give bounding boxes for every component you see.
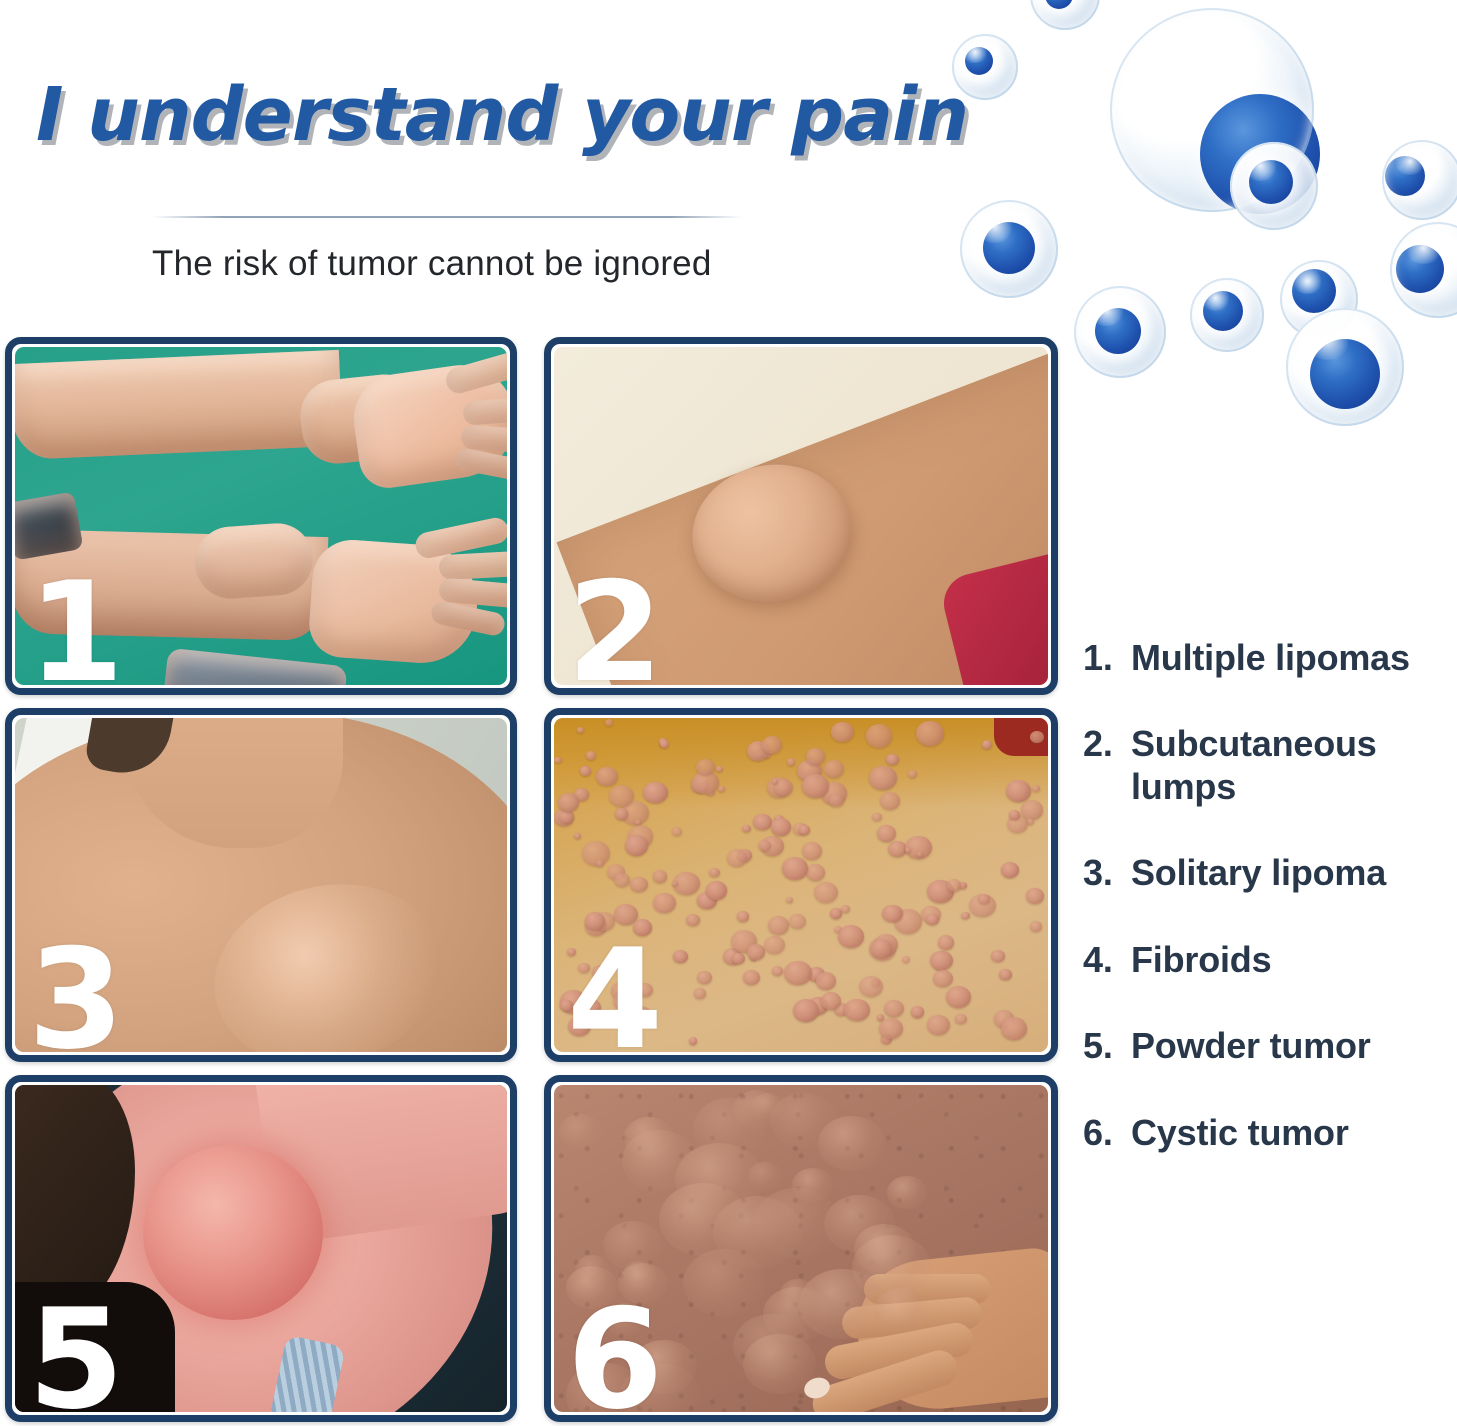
fibroid-nodule	[886, 754, 899, 765]
fibroid-nodule	[743, 970, 760, 985]
fibroid-nodule	[866, 724, 892, 747]
legend-label-6: Cystic tumor	[1131, 1112, 1443, 1154]
fibroid-nodule	[635, 820, 641, 825]
fibroid-nodule	[615, 808, 628, 819]
fibroid-nodule	[926, 914, 939, 925]
fibroid-nodule	[1032, 785, 1040, 792]
fibroid-nodule	[609, 785, 634, 807]
fibroid-nodule	[742, 825, 750, 832]
fibroid-nodule	[927, 1015, 950, 1035]
fibroid-nodule	[821, 992, 841, 1010]
fibroid-nodule	[764, 936, 785, 955]
fibroid-nodule	[696, 759, 714, 775]
fibroid-nodule	[806, 748, 825, 764]
fibroid-nodule	[718, 786, 725, 792]
fibroid-nodule	[793, 999, 819, 1022]
fibroid-nodule	[884, 1000, 904, 1017]
fibroid-nodule	[831, 722, 854, 742]
fibroid-nodule	[930, 951, 953, 971]
fibroid-nodule	[1001, 862, 1019, 878]
legend-number-6: 6.	[1083, 1112, 1131, 1154]
fibroid-nodule	[686, 914, 700, 926]
fibroid-nodule	[653, 870, 667, 882]
fibroid-nodule	[841, 905, 851, 913]
fibroid-nodule	[882, 905, 902, 923]
legend-number-2: 2.	[1083, 723, 1131, 808]
legend-number-3: 3.	[1083, 852, 1131, 894]
fibroid-nodule	[946, 986, 971, 1008]
fibroid-nodule	[859, 976, 884, 998]
tumor-type-legend: 1. Multiple lipomas 2. Subcutaneous lump…	[1083, 637, 1443, 1198]
bubble-mid-left-icon	[960, 200, 1058, 298]
fibroid-nodule	[768, 916, 789, 935]
fibroid-nodule	[643, 782, 667, 803]
bubble-lower-left-icon	[1074, 286, 1166, 378]
fibroid-nodule	[829, 794, 844, 807]
photo-number-badge-5: 5	[28, 1291, 124, 1422]
fibroid-nodule	[580, 766, 590, 775]
fibroid-nodule	[787, 758, 795, 765]
legend-number-5: 5.	[1083, 1025, 1131, 1067]
page-subtitle: The risk of tumor cannot be ignored	[152, 244, 972, 284]
fibroid-nodule	[625, 835, 648, 856]
legend-item-4: 4. Fibroids	[1083, 939, 1443, 981]
photo-cell-3[interactable]: 3	[5, 708, 517, 1062]
fibroid-nodule	[872, 813, 881, 821]
fibroid-nodule	[727, 849, 748, 867]
fibroid-nodule	[933, 970, 953, 988]
fibroid-nodule	[577, 727, 584, 733]
fibroid-nodule	[888, 841, 906, 857]
fibroid-nodule	[911, 1006, 924, 1018]
fibroid-nodule	[877, 825, 896, 842]
legend-item-2: 2. Subcutaneous lumps	[1083, 723, 1443, 808]
fibroid-nodule	[697, 971, 711, 984]
fibroid-nodule	[1030, 921, 1042, 932]
legend-number-1: 1.	[1083, 637, 1131, 679]
fibroid-nodule	[672, 827, 682, 836]
fibroid-nodule	[689, 1037, 697, 1044]
fibroid-nodule	[816, 972, 836, 990]
legend-label-5: Powder tumor	[1131, 1025, 1443, 1067]
legend-number-4: 4.	[1083, 939, 1131, 981]
legend-label-3: Solitary lipoma	[1131, 852, 1443, 894]
fibroid-nodule	[814, 882, 838, 903]
cystic-bump	[887, 1176, 927, 1209]
fibroid-nodule	[709, 868, 720, 877]
fibroid-nodule	[753, 814, 772, 830]
fibroid-nodule	[802, 842, 822, 859]
photo-number-badge-2: 2	[567, 564, 663, 695]
legend-label-4: Fibroids	[1131, 939, 1443, 981]
fibroid-nodule	[1001, 1017, 1027, 1040]
fibroid-nodule	[559, 810, 574, 823]
fibroid-nodule	[824, 760, 844, 778]
fibroid-nodule	[694, 988, 706, 998]
fibroid-nodule	[844, 999, 870, 1022]
fibroid-nodule	[772, 966, 783, 976]
photo-cell-2[interactable]: 2	[544, 337, 1058, 695]
fibroid-nodule	[908, 770, 917, 778]
fibroid-nodule	[784, 961, 811, 985]
legend-item-6: 6. Cystic tumor	[1083, 1112, 1443, 1154]
fibroid-nodule	[838, 925, 864, 948]
legend-item-5: 5. Powder tumor	[1083, 1025, 1443, 1067]
cystic-bump	[559, 1114, 603, 1150]
fibroid-nodule	[782, 857, 808, 880]
photo-cell-4[interactable]: 4	[544, 708, 1058, 1062]
fibroid-nodule	[879, 1018, 903, 1039]
fibroid-nodule	[978, 894, 990, 904]
fibroid-nodule	[880, 792, 900, 810]
legend-label-1: Multiple lipomas	[1131, 637, 1443, 679]
bubble-top-clip-icon	[1030, 0, 1100, 30]
photo-number-badge-1: 1	[28, 564, 124, 695]
bubble-edge-right-b-icon	[1390, 222, 1457, 318]
fibroid-nodule	[630, 877, 648, 893]
bubble-large-main-icon	[1110, 8, 1314, 212]
fibroid-nodule	[938, 935, 955, 950]
fibroid-nodule	[673, 950, 688, 963]
title-divider	[152, 216, 742, 218]
fibroid-nodule	[771, 818, 792, 836]
legend-item-3: 3. Solitary lipoma	[1083, 852, 1443, 894]
fibroid-nodule	[758, 840, 771, 851]
fibroid-nodule	[596, 860, 604, 867]
fibroid-nodule	[991, 950, 1004, 962]
fibroid-nodule	[614, 873, 630, 887]
tumor-photo-grid: 1 2 3 4	[5, 337, 1058, 1422]
cystic-bump	[754, 1188, 840, 1258]
fibroid-nodule	[916, 721, 944, 746]
legend-item-1: 1. Multiple lipomas	[1083, 637, 1443, 679]
fibroid-nodule	[869, 766, 897, 791]
photo-number-badge-6: 6	[567, 1291, 663, 1422]
fibroid-nodule	[799, 825, 810, 835]
fibroid-nodule	[955, 1014, 967, 1024]
bubble-mid-right-icon	[1230, 142, 1318, 230]
fibroid-nodule	[871, 939, 892, 958]
fibroid-nodule	[732, 953, 745, 965]
fibroid-nodule	[806, 864, 825, 881]
cystic-bump	[752, 1093, 784, 1119]
fibroid-nodule	[789, 914, 806, 929]
cystic-bump	[799, 1269, 885, 1339]
fibroid-nodule	[947, 879, 962, 892]
photo-cell-5[interactable]: 5	[5, 1075, 517, 1422]
page-title: I understand your pain	[36, 72, 936, 158]
photo-number-badge-4: 4	[567, 931, 663, 1062]
fibroid-nodule	[902, 956, 910, 963]
fibroid-nodule	[653, 893, 676, 913]
fibroid-nodule	[706, 881, 727, 899]
bubble-lower-mid-icon	[1190, 278, 1264, 352]
fibroid-nodule	[558, 793, 579, 812]
fibroid-nodule	[747, 944, 764, 959]
bubble-lower-right-a-icon	[1280, 260, 1358, 338]
legend-label-2: Subcutaneous lumps	[1131, 723, 1443, 808]
bubble-lower-right-b-icon	[1286, 308, 1404, 426]
fibroid-nodule	[999, 969, 1012, 980]
photo-cell-1[interactable]: 1	[5, 337, 517, 695]
fibroid-nodule	[762, 736, 782, 753]
bubble-edge-right-a-icon	[1382, 140, 1457, 220]
fibroid-nodule	[961, 912, 970, 920]
fibroid-nodule	[786, 897, 793, 903]
photo-number-badge-3: 3	[28, 931, 124, 1062]
fibroid-nodule	[802, 774, 829, 798]
fibroid-nodule	[1026, 888, 1044, 904]
photo-cell-6[interactable]: 6	[544, 1075, 1058, 1422]
cystic-bump	[733, 1314, 811, 1378]
fibroid-nodule	[574, 833, 581, 839]
fibroid-nodule	[737, 911, 749, 921]
fibroid-nodule	[554, 757, 561, 763]
